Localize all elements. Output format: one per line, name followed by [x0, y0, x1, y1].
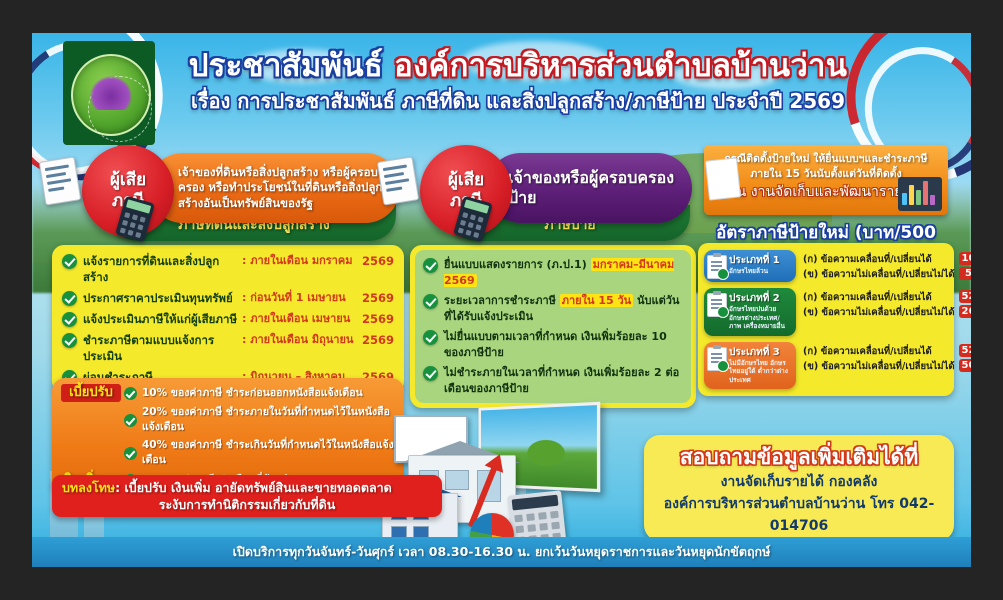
- page-subtitle: เรื่อง การประชาสัมพันธ์ ภาษีที่ดิน และสิ…: [168, 87, 868, 115]
- list-item: เบี้ยปรับ 10% ของค่าภาษี ชำระก่อนออกหนัง…: [61, 384, 395, 402]
- poster-canvas: ประชาสัมพันธ์ องค์การบริหารส่วนตำบลบ้านว…: [32, 33, 971, 567]
- sign-type-2-tag: ประเภทที่ 2 อักษรไทยปนด้วย อักษรต่างประเ…: [704, 288, 796, 336]
- sign-type-1-tag: ประเภทที่ 1 อักษรไทยล้วน: [704, 250, 796, 282]
- list-item: ไม่ยื่นแบบตามเวลาที่กำหนด เงินเพิ่มร้อยล…: [423, 329, 683, 360]
- penalty-bar-line2: ระงับการทำนิติกรรมเกี่ยวกับที่ดิน: [62, 496, 432, 513]
- contact-box: สอบถามข้อมูลเพิ่มเติมได้ที่ งานจัดเก็บรา…: [644, 435, 954, 541]
- sign-type-3-tag: ประเภทที่ 3 ไม่มีอักษรไทย อักษรไทยอยู่ใต…: [704, 342, 796, 390]
- rate-value: 52: [959, 344, 971, 357]
- contact-heading: สอบถามข้อมูลเพิ่มเติมได้ที่: [652, 444, 946, 471]
- rate-value: 50: [959, 359, 971, 372]
- check-icon: [62, 333, 77, 348]
- sign-taxpayer-description: เจ้าของหรือผู้ครอบครองป้าย: [508, 168, 678, 208]
- rate-value: 52: [959, 290, 971, 303]
- list-item: 20% ของค่าภาษี ชำระภายในวันที่กำหนดไว้ใน…: [61, 405, 395, 435]
- table-row: ประกาศราคาประเมินทุนทรัพย์ : ก่อนวันที่ …: [62, 290, 394, 306]
- sign-taxpayer-description-pill: เจ้าของหรือผู้ครอบครองป้าย: [486, 153, 692, 223]
- list-item: ยื่นแบบแสดงรายการ (ภ.ป.1) มกราคม–มีนาคม …: [423, 257, 683, 288]
- chart-monitor-icon: [898, 177, 942, 211]
- sign-tax-rules-panel: ยื่นแบบแสดงรายการ (ภ.ป.1) มกราคม–มีนาคม …: [410, 245, 696, 408]
- check-icon: [62, 254, 77, 269]
- check-icon: [423, 258, 438, 273]
- sign-tax-rate-table: ประเภทที่ 1 อักษรไทยล้วน (ก) ข้อความเคลื…: [698, 243, 954, 396]
- rate-value: 10: [959, 252, 971, 265]
- land-taxpayer-description-pill: เจ้าของที่ดินหรือสิ่งปลูกสร้าง หรือผู้คร…: [148, 153, 400, 223]
- new-sign-notice-box: กรณีติดตั้งป้ายใหม่ ให้ยื่นแบบฯและชำระภา…: [704, 145, 948, 215]
- notice-line-1: กรณีติดตั้งป้ายใหม่ ให้ยื่นแบบฯและชำระภา…: [712, 152, 940, 167]
- rate-value: 5: [959, 267, 971, 280]
- contact-phone: องค์การบริหารส่วนตำบลบ้านว่าน โทร 042-01…: [652, 493, 946, 537]
- document-icon: [39, 156, 81, 205]
- contact-department: งานจัดเก็บรายได้ กองคลัง: [652, 471, 946, 493]
- table-row: แจ้งประเมินภาษีให้แก่ผู้เสียภาษี : ภายใน…: [62, 311, 394, 327]
- check-icon: [62, 312, 77, 327]
- check-icon: [124, 414, 137, 427]
- list-item: ไม่ชำระภายในเวลาที่กำหนด เงินเพิ่มร้อยละ…: [423, 365, 683, 396]
- table-row: ชำระภาษีตามแบบแจ้งการประเมิน : ภายในเดือ…: [62, 332, 394, 364]
- list-item: 40% ของค่าภาษี ชำระเกินวันที่กำหนดไว้ในห…: [61, 438, 395, 468]
- check-icon: [423, 294, 438, 309]
- table-row: แจ้งรายการที่ดินและสิ่งปลูกสร้าง : ภายใน…: [62, 253, 394, 285]
- page-title: ประชาสัมพันธ์ องค์การบริหารส่วนตำบลบ้านว…: [168, 46, 868, 86]
- fine-label: เบี้ยปรับ: [61, 384, 121, 402]
- check-icon: [124, 387, 137, 400]
- service-hours-text: เปิดบริการทุกวันจันทร์-วันศุกร์ เวลา 08.…: [233, 542, 771, 562]
- form-document-icon: [705, 157, 741, 200]
- header-titles: ประชาสัมพันธ์ องค์การบริหารส่วนตำบลบ้านว…: [168, 46, 868, 115]
- legal-penalty-bar: บทลงโทษ: เบี้ยปรับ เงินเพิ่ม อายัดทรัพย์…: [52, 475, 442, 517]
- penalty-bar-label: บทลงโทษ: [62, 480, 115, 495]
- service-hours-footer: เปิดบริการทุกวันจันทร์-วันศุกร์ เวลา 08.…: [32, 537, 971, 567]
- rate-value: 26: [959, 305, 971, 318]
- list-item: ระยะเวลาการชำระภาษี ภายใน 15 วัน นับแต่ว…: [423, 293, 683, 324]
- check-icon: [423, 366, 438, 381]
- clipboard-icon: [707, 255, 727, 279]
- table-row: ประเภทที่ 2 อักษรไทยปนด้วย อักษรต่างประเ…: [704, 288, 948, 336]
- table-row: ประเภทที่ 1 อักษรไทยล้วน (ก) ข้อความเคลื…: [704, 250, 948, 282]
- table-row: ประเภทที่ 3 ไม่มีอักษรไทย อักษรไทยอยู่ใต…: [704, 342, 948, 390]
- document-icon: [377, 156, 419, 205]
- organization-logo: [63, 41, 155, 145]
- check-icon: [124, 447, 137, 460]
- check-icon: [62, 291, 77, 306]
- land-tax-schedule-panel: แจ้งรายการที่ดินและสิ่งปลูกสร้าง : ภายใน…: [52, 245, 404, 393]
- check-icon: [423, 330, 438, 345]
- clipboard-icon: [707, 293, 727, 317]
- clipboard-icon: [707, 347, 727, 371]
- land-taxpayer-description: เจ้าของที่ดินหรือสิ่งปลูกสร้าง หรือผู้คร…: [178, 165, 386, 212]
